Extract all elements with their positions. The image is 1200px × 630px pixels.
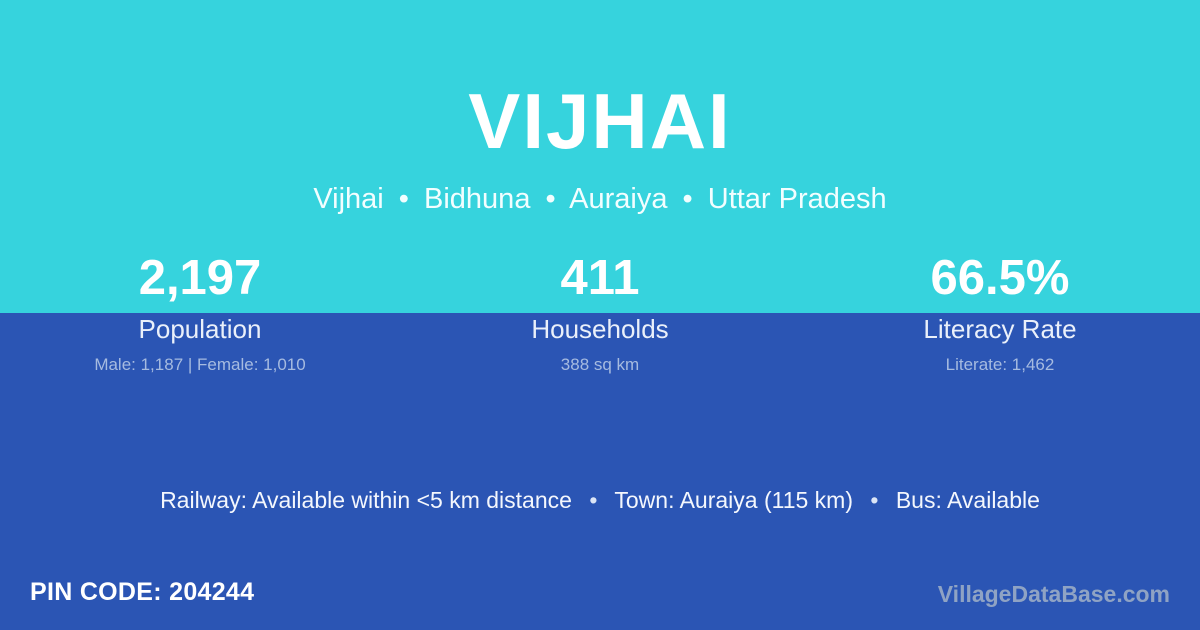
- stat-population-label: Population: [0, 314, 400, 344]
- stat-literacy-rate: 66.5% Literacy Rate Literate: 1,462: [800, 245, 1200, 376]
- site-brand: VillageDataBase.com: [938, 580, 1170, 608]
- infrastructure-item-railway: Railway: Available within <5 km distance: [160, 487, 572, 513]
- stat-population: 2,197 Population Male: 1,187 | Female: 1…: [0, 245, 400, 376]
- breadcrumb-item-village: Vijhai: [313, 183, 383, 215]
- village-info-card: VIJHAI Vijhai • Bidhuna • Auraiya • Utta…: [0, 0, 1200, 630]
- breadcrumb-separator: •: [676, 183, 700, 215]
- stat-households-label: Households: [400, 314, 800, 344]
- stat-households: 411 Households 388 sq km: [400, 245, 800, 376]
- infrastructure-separator: •: [859, 487, 889, 513]
- breadcrumb-item-state: Uttar Pradesh: [708, 183, 887, 215]
- stat-literacy-rate-label: Literacy Rate: [800, 314, 1200, 344]
- stat-literacy-rate-count: Literate: 1,462: [800, 354, 1200, 376]
- page-title: VIJHAI: [0, 82, 1200, 160]
- infrastructure-summary: Railway: Available within <5 km distance…: [0, 486, 1200, 514]
- stat-population-breakdown: Male: 1,187 | Female: 1,010: [0, 354, 400, 376]
- stat-literacy-rate-value: 66.5%: [800, 245, 1200, 311]
- infrastructure-item-town: Town: Auraiya (115 km): [614, 487, 853, 513]
- breadcrumb-separator: •: [392, 183, 416, 215]
- infrastructure-item-bus: Bus: Available: [896, 487, 1040, 513]
- stat-households-value: 411: [400, 245, 800, 311]
- stats-row: 2,197 Population Male: 1,187 | Female: 1…: [0, 245, 1200, 376]
- stat-population-value: 2,197: [0, 245, 400, 311]
- pin-code: PIN CODE: 204244: [30, 577, 254, 607]
- breadcrumb: Vijhai • Bidhuna • Auraiya • Uttar Prade…: [0, 182, 1200, 217]
- breadcrumb-separator: •: [539, 183, 563, 215]
- stat-households-area: 388 sq km: [400, 354, 800, 376]
- breadcrumb-item-district: Auraiya: [569, 183, 667, 215]
- infrastructure-separator: •: [578, 487, 608, 513]
- breadcrumb-item-block: Bidhuna: [424, 183, 530, 215]
